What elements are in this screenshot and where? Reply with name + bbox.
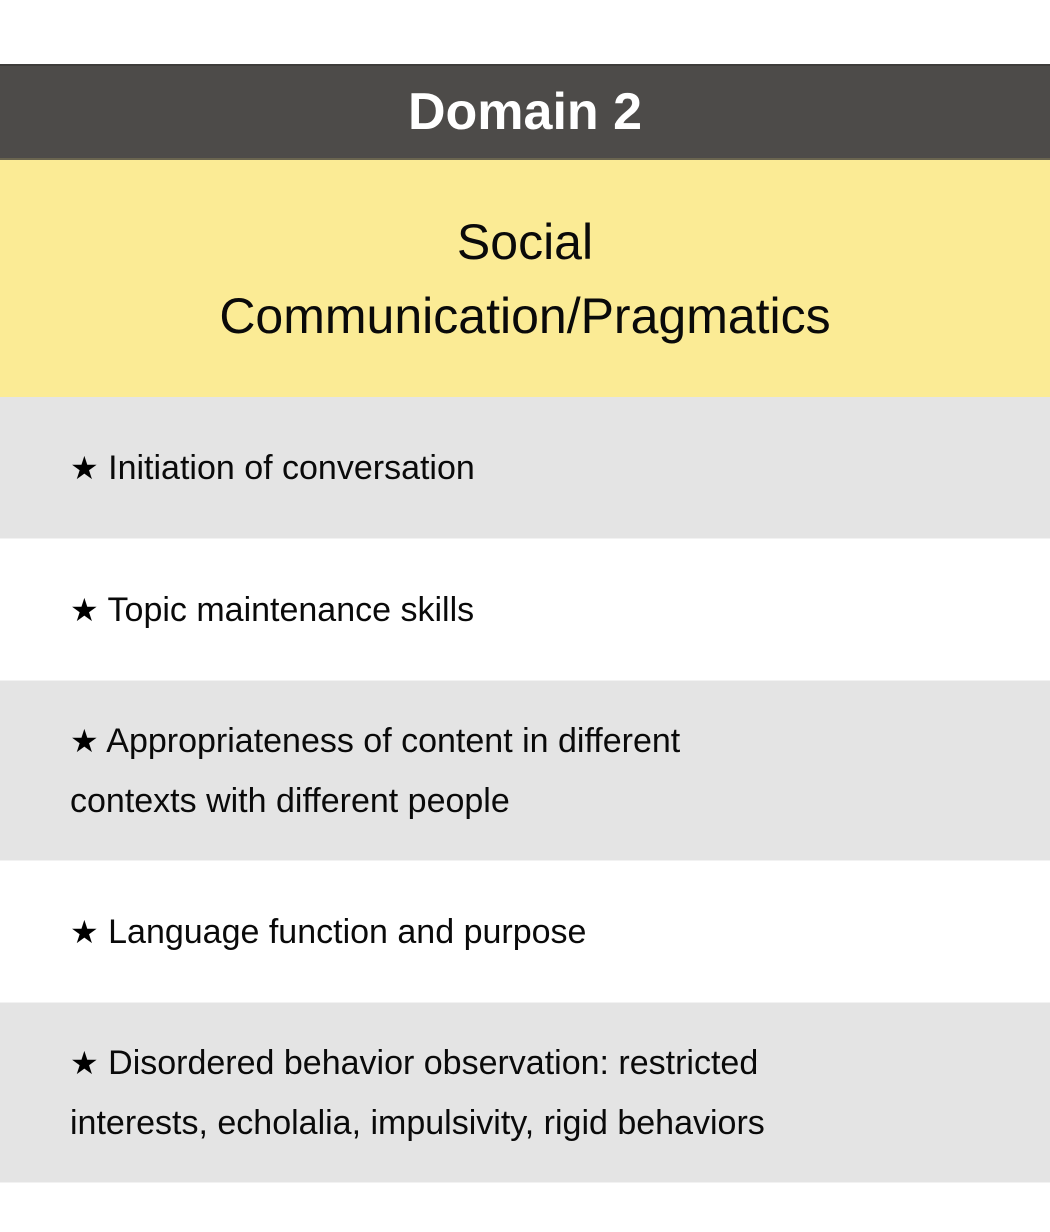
domain-title-line-1: Social xyxy=(457,205,593,279)
domain-header-title: Domain 2 xyxy=(408,86,642,138)
star-icon: ★ xyxy=(70,914,99,950)
list-item-text: ★ Appropriateness of content in differen… xyxy=(70,711,1026,771)
domain-item-list: ★ Initiation of conversation ★ Topic mai… xyxy=(0,397,1050,1183)
domain-title-line-2: Communication/Pragmatics xyxy=(219,279,830,353)
list-item-label-line-2: contexts with different people xyxy=(70,782,510,820)
list-item-label: Language function and purpose xyxy=(108,913,586,951)
list-item-label-line-2: interests, echolalia, impulsivity, rigid… xyxy=(70,1104,765,1142)
star-icon: ★ xyxy=(70,592,99,628)
domain-title-banner: Social Communication/Pragmatics xyxy=(0,160,1050,397)
top-spacer xyxy=(0,0,1050,64)
list-item: ★ Topic maintenance skills xyxy=(0,539,1050,681)
list-item-label: Topic maintenance skills xyxy=(108,591,475,629)
list-item: ★ Language function and purpose xyxy=(0,861,1050,1003)
list-item-text-continued: interests, echolalia, impulsivity, rigid… xyxy=(70,1093,1026,1153)
list-item: ★ Appropriateness of content in differen… xyxy=(0,681,1050,861)
domain-header-band: Domain 2 xyxy=(0,64,1050,160)
star-icon: ★ xyxy=(70,450,99,486)
list-item-text-continued: contexts with different people xyxy=(70,771,1026,831)
list-item-text: ★ Topic maintenance skills xyxy=(70,580,1026,640)
list-item-label: Initiation of conversation xyxy=(108,449,475,487)
list-item: ★ Disordered behavior observation: restr… xyxy=(0,1003,1050,1183)
list-item-label: Appropriateness of content in different xyxy=(106,722,680,760)
bottom-spacer xyxy=(0,1183,1050,1232)
list-item-text: ★ Initiation of conversation xyxy=(70,438,1026,498)
domain-card: Domain 2 Social Communication/Pragmatics… xyxy=(0,0,1050,1232)
list-item: ★ Initiation of conversation xyxy=(0,397,1050,539)
list-item-label: Disordered behavior observation: restric… xyxy=(108,1044,758,1082)
list-item-text: ★ Disordered behavior observation: restr… xyxy=(70,1033,1026,1093)
star-icon: ★ xyxy=(70,1045,99,1081)
star-icon: ★ xyxy=(70,723,99,759)
list-item-text: ★ Language function and purpose xyxy=(70,902,1026,962)
